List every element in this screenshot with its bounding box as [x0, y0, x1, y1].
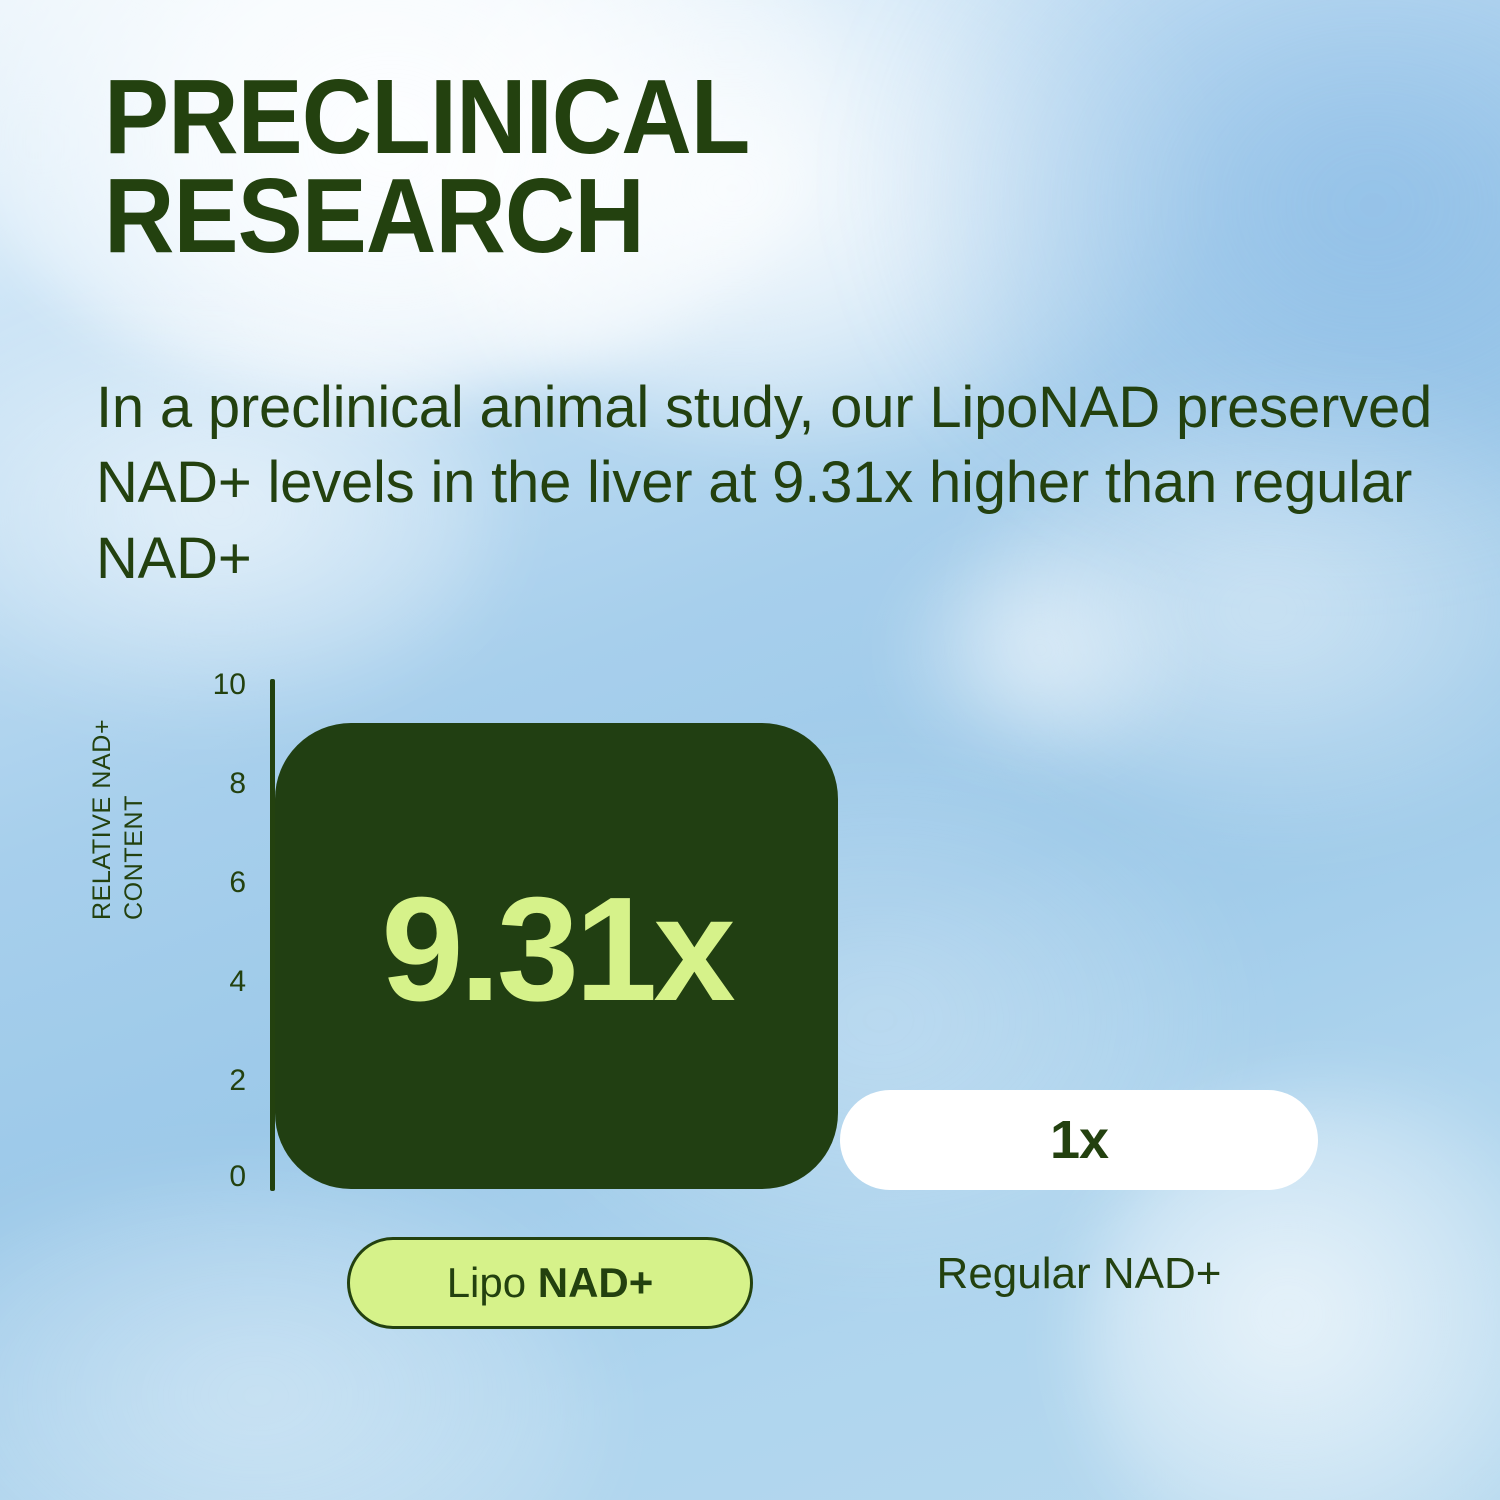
y-tick-label: 4: [198, 967, 246, 997]
bar-chart: RELATIVE NAD+ CONTENT 10 8 6 4 2 0 9.31x…: [0, 0, 1500, 1500]
legend-lipo-nad-label: Lipo NAD+: [447, 1262, 654, 1304]
y-tick-label: 0: [198, 1162, 246, 1192]
y-tick-label: 6: [198, 868, 246, 898]
legend-regular-nad-label: Regular NAD+: [840, 1252, 1318, 1296]
legend-lipo-bold: NAD+: [538, 1259, 654, 1306]
y-tick-label: 10: [198, 670, 246, 700]
bar-lipo-nad: 9.31x: [275, 723, 838, 1189]
y-axis-label: RELATIVE NAD+ CONTENT: [86, 620, 150, 920]
bar-regular-nad: 1x: [840, 1090, 1318, 1190]
bar-regular-value-label: 1x: [1050, 1113, 1108, 1167]
bar-lipo-value-label: 9.31x: [381, 876, 731, 1024]
legend-lipo-prefix: Lipo: [447, 1259, 538, 1306]
y-tick-label: 8: [198, 769, 246, 799]
y-tick-label: 2: [198, 1066, 246, 1096]
poster-canvas: PRECLINICAL RESEARCH In a preclinical an…: [0, 0, 1500, 1500]
legend-lipo-nad-pill: Lipo NAD+: [347, 1237, 753, 1329]
